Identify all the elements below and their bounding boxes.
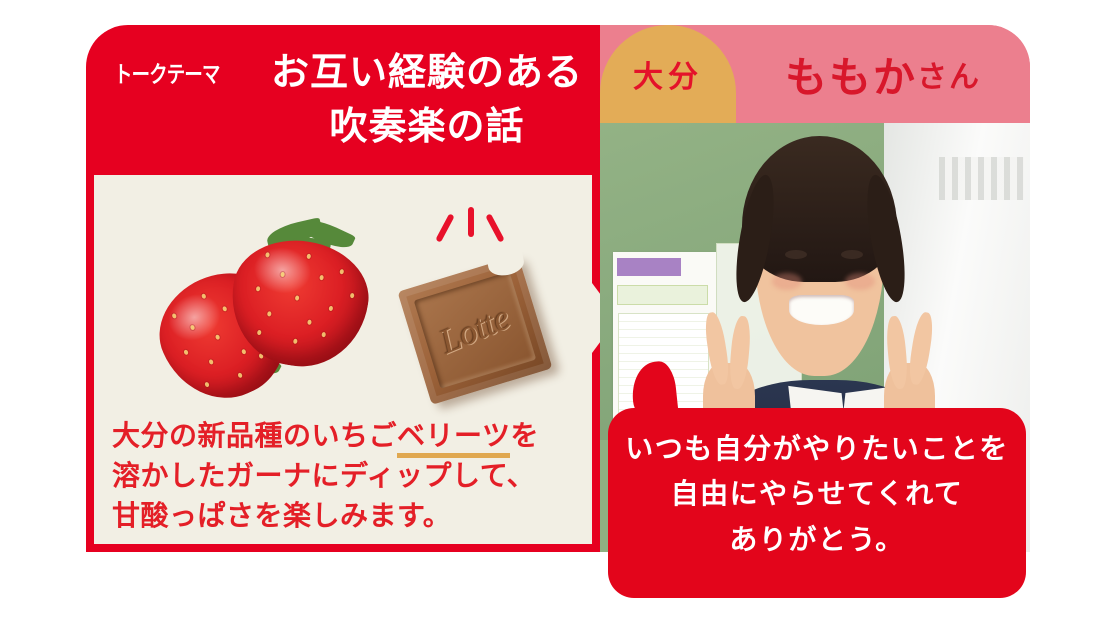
recipe-caption-line-1: 大分の新品種のいちごベリーツを (112, 417, 574, 457)
recipe-card: Lotte 大分の新品種のいちごベリーツを 溶かしたガーナにディップして、 甘酸… (94, 175, 592, 544)
sparkle-icon (435, 213, 454, 242)
person-name: ももかさん (736, 25, 1030, 123)
recipe-caption-line-1-pre: 大分の新品種のいちご (112, 421, 397, 452)
window-blind (939, 157, 1024, 200)
speech-bubble-text: いつも自分がやりたいことを 自由にやらせてくれて ありがとう。 (608, 426, 1026, 562)
recipe-caption-line-1-post: を (510, 421, 539, 452)
recipe-caption-line-2: 溶かしたガーナにディップして、 (112, 457, 574, 497)
recipe-caption: 大分の新品種のいちごベリーツを 溶かしたガーナにディップして、 甘酸っぱさを楽し… (112, 417, 574, 536)
chocolate-icon: Lotte (398, 255, 553, 405)
talk-theme-panel: トークテーマ お互い経験のある 吹奏楽の話 (86, 25, 600, 552)
promo-graphic: トークテーマ お互い経験のある 吹奏楽の話 (0, 0, 1116, 620)
speech-line-2: 自由にやらせてくれて (608, 471, 1026, 516)
sparkle-icon (468, 207, 474, 237)
person-name-honorific: さん (917, 52, 981, 96)
talk-theme-title-line-1: お互い経験のある (262, 47, 592, 101)
strawberry-icon (221, 213, 379, 384)
talk-theme-title-line-2: 吹奏楽の話 (262, 101, 592, 155)
food-illustration: Lotte (112, 205, 574, 410)
speech-bubble: いつも自分がやりたいことを 自由にやらせてくれて ありがとう。 (608, 408, 1026, 598)
smile (789, 295, 854, 325)
talk-theme-title: お互い経験のある 吹奏楽の話 (262, 47, 592, 155)
talk-theme-label: トークテーマ (114, 55, 220, 89)
berryts-highlight: ベリーツ (397, 421, 510, 458)
person-name-text: ももか (785, 44, 917, 105)
region-badge-label: 大分 (600, 25, 736, 123)
sparkle-icon (485, 213, 504, 242)
speech-line-3: ありがとう。 (608, 517, 1026, 562)
recipe-caption-line-3: 甘酸っぱさを楽しみます。 (112, 497, 574, 537)
speech-line-1: いつも自分がやりたいことを (608, 426, 1026, 471)
